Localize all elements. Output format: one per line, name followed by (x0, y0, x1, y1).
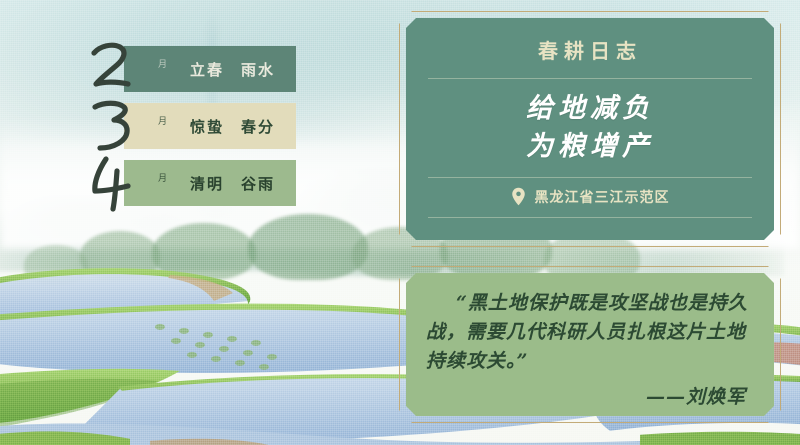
quote-attribution: ——刘焕军 (426, 376, 752, 409)
month-row-april: 月 清明 谷雨 (96, 160, 296, 206)
solar-term: 雨水 (241, 59, 275, 80)
page-title: 春耕日志 (428, 32, 752, 78)
month-row-march: 月 惊蛰 春分 (96, 103, 296, 149)
expert-quote-card: “黑土地保护既是攻坚战也是持久战，需要几代科研人员扎根这片土地持续攻关。” ——… (406, 273, 774, 416)
solar-terms-april: 清明 谷雨 (190, 173, 275, 194)
solar-term: 惊蛰 (190, 116, 224, 137)
solar-terms-march: 惊蛰 春分 (190, 116, 275, 137)
quote-text: “黑土地保护既是攻坚战也是持久战，需要几代科研人员扎根这片土地持续攻关。” (426, 289, 752, 376)
solar-term: 谷雨 (241, 173, 275, 194)
month-row-february: 月 立春 雨水 (96, 46, 296, 92)
month-bar: 月 惊蛰 春分 (124, 103, 296, 149)
location-label: 黑龙江省三江示范区 (535, 187, 670, 207)
solar-term: 立春 (190, 59, 224, 80)
solar-term-calendar: 月 立春 雨水 月 惊蛰 春分 (96, 46, 296, 217)
headline-line-2: 为粮增产 (428, 128, 752, 166)
month-unit-label: 月 (158, 117, 167, 126)
month-bar: 月 立春 雨水 (124, 46, 296, 92)
headline-line-1: 给地减负 (428, 90, 752, 128)
divider (428, 217, 752, 218)
spring-plowing-journal-card: 春耕日志 给地减负 为粮增产 黑龙江省三江示范区 (406, 18, 774, 240)
headline: 给地减负 为粮增产 (428, 79, 752, 177)
solar-term: 春分 (241, 116, 275, 137)
month-unit-label: 月 (158, 60, 167, 69)
card-background: 春耕日志 给地减负 为粮增产 黑龙江省三江示范区 (406, 18, 774, 240)
solar-terms-february: 立春 雨水 (190, 59, 275, 80)
location-pin-icon (511, 187, 526, 206)
poster-canvas: 月 立春 雨水 月 惊蛰 春分 (0, 0, 800, 445)
month-unit-label: 月 (158, 174, 167, 183)
solar-term: 清明 (190, 173, 224, 194)
location-row: 黑龙江省三江示范区 (428, 178, 752, 217)
card-background: “黑土地保护既是攻坚战也是持久战，需要几代科研人员扎根这片土地持续攻关。” ——… (406, 273, 774, 416)
month-bar: 月 清明 谷雨 (124, 160, 296, 206)
